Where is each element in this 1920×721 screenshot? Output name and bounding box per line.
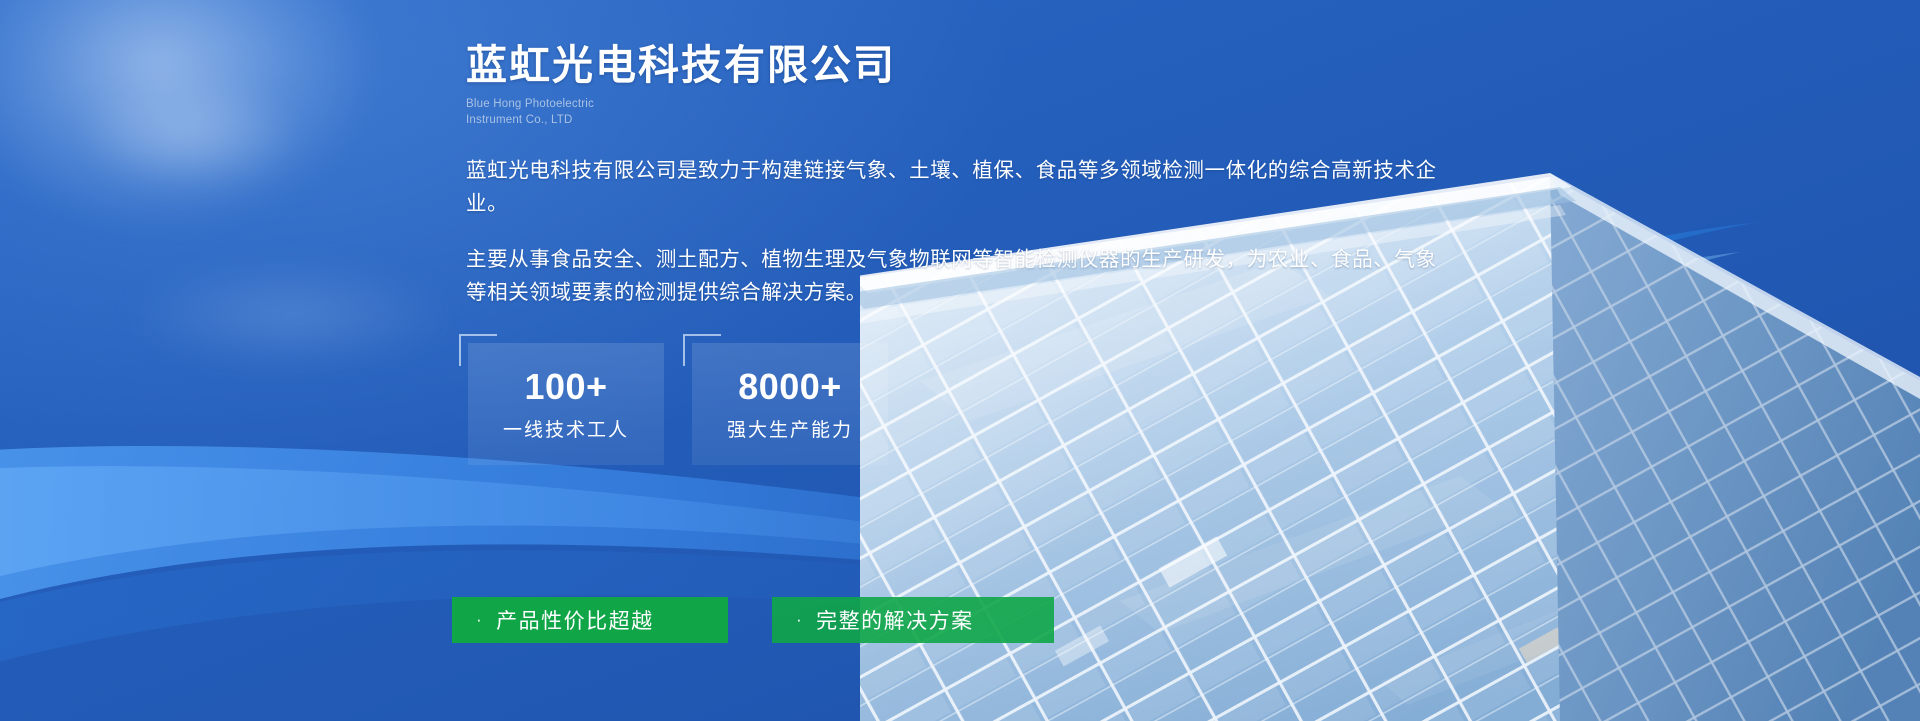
stat-card-capacity: 8000+ 强大生产能力	[692, 343, 888, 465]
company-name-english-line1: Blue Hong Photoelectric	[466, 97, 1476, 113]
page-title: 蓝虹光电科技有限公司	[466, 40, 1476, 91]
stat-label: 一线技术工人	[503, 421, 629, 440]
company-name-english: Blue Hong Photoelectric Instrument Co., …	[466, 97, 1476, 128]
feature-tag-label: 产品性价比超越	[496, 605, 654, 635]
stat-label: 强大生产能力	[727, 421, 853, 440]
company-name-english-line2: Instrument Co., LTD	[466, 113, 1476, 129]
feature-tag-value[interactable]: · 产品性价比超越	[452, 597, 728, 643]
stat-value: 100+	[524, 369, 607, 405]
bullet-dot-icon: ·	[476, 611, 483, 628]
feature-tag-label: 完整的解决方案	[816, 605, 974, 635]
hero-content: 蓝虹光电科技有限公司 Blue Hong Photoelectric Instr…	[466, 40, 1476, 465]
feature-tags-group: · 产品性价比超越 · 完整的解决方案	[452, 597, 1054, 643]
stat-value: 8000+	[738, 369, 842, 405]
intro-paragraph-2: 主要从事食品安全、测土配方、植物生理及气象物联网等智能检测仪器的生产研发，为农业…	[466, 243, 1446, 309]
intro-paragraph-1: 蓝虹光电科技有限公司是致力于构建链接气象、土壤、植保、食品等多领域检测一体化的综…	[466, 154, 1446, 220]
feature-tag-solution[interactable]: · 完整的解决方案	[772, 597, 1054, 643]
company-hero-banner: 蓝虹光电科技有限公司 Blue Hong Photoelectric Instr…	[0, 0, 1920, 721]
stats-group: 100+ 一线技术工人 8000+ 强大生产能力	[468, 343, 1476, 465]
stat-card-workers: 100+ 一线技术工人	[468, 343, 664, 465]
bullet-dot-icon: ·	[796, 611, 803, 628]
